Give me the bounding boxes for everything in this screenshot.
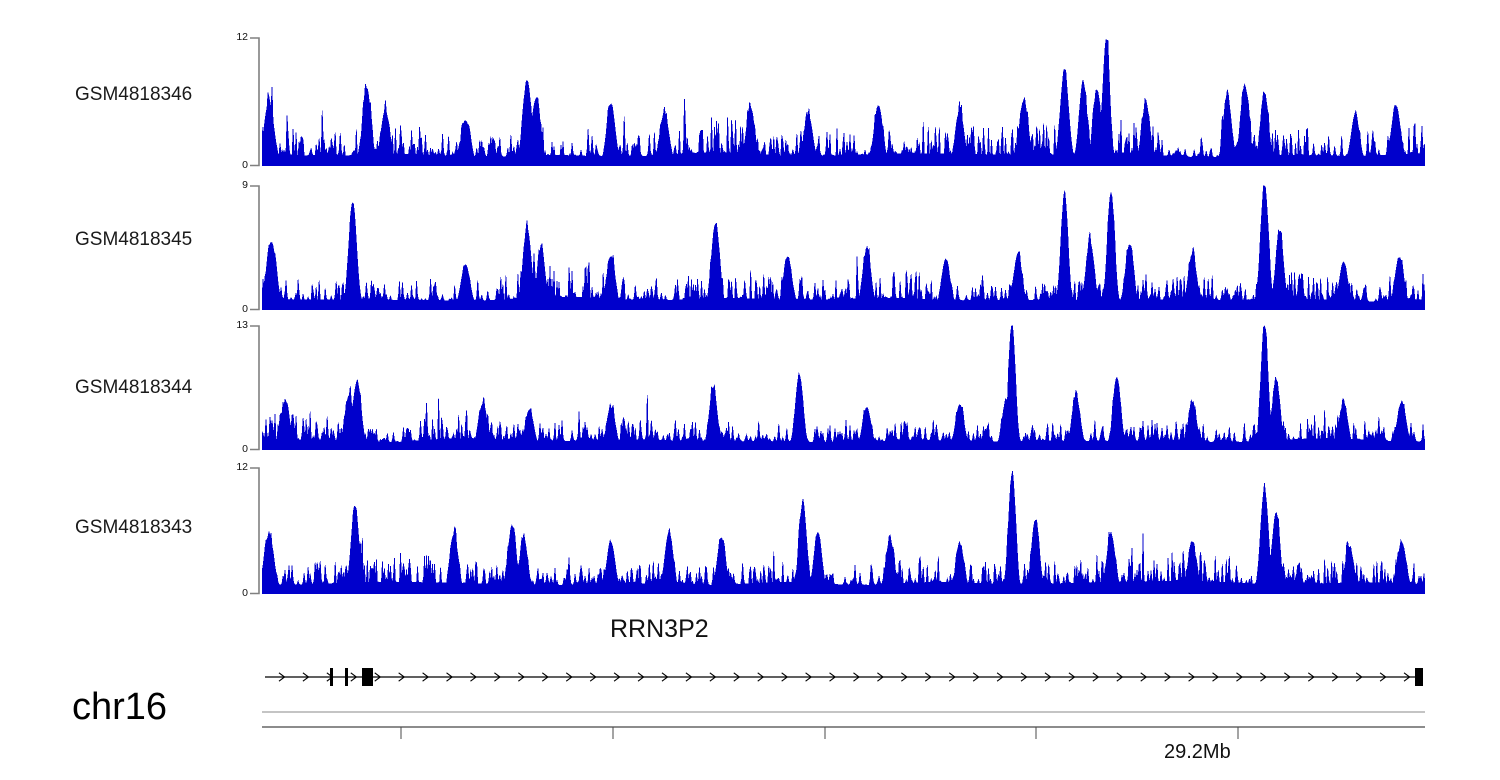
track-sample-label: GSM4818346	[75, 85, 192, 104]
signal-plot-area[interactable]	[262, 37, 1425, 166]
genome-browser: GSM4818346120GSM481834590GSM4818344130GS…	[0, 0, 1500, 780]
track-axis	[250, 467, 260, 595]
axis-max-label: 13	[222, 320, 248, 331]
track-axis	[250, 325, 260, 451]
gene-exon-block	[1415, 668, 1423, 686]
axis-max-label: 9	[222, 180, 248, 191]
ruler-axis[interactable]	[262, 708, 1427, 748]
coverage-signal	[262, 37, 1425, 166]
track-axis-bracket	[250, 185, 260, 311]
track-sample-label: GSM4818343	[75, 518, 192, 537]
axis-min-label: 0	[222, 444, 248, 455]
ruler-position-label: 29.2Mb	[1164, 742, 1231, 762]
axis-min-label: 0	[222, 160, 248, 171]
axis-max-label: 12	[222, 32, 248, 43]
coverage-signal	[262, 325, 1425, 450]
axis-max-label: 12	[222, 462, 248, 473]
track-axis	[250, 37, 260, 167]
gene-exon-block	[330, 668, 333, 686]
track-sample-label: GSM4818344	[75, 378, 192, 397]
signal-plot-area[interactable]	[262, 467, 1425, 594]
gene-model[interactable]	[265, 664, 1428, 690]
axis-min-label: 0	[222, 304, 248, 315]
coverage-signal	[262, 185, 1425, 310]
signal-plot-area[interactable]	[262, 325, 1425, 450]
signal-plot-area[interactable]	[262, 185, 1425, 310]
gene-exon-block	[362, 668, 373, 686]
gene-label: RRN3P2	[610, 617, 709, 642]
axis-min-label: 0	[222, 588, 248, 599]
coverage-signal	[262, 467, 1425, 594]
track-sample-label: GSM4818345	[75, 230, 192, 249]
gene-exon-block	[345, 668, 348, 686]
track-axis	[250, 185, 260, 311]
track-axis-bracket	[250, 325, 260, 451]
track-axis-bracket	[250, 37, 260, 167]
track-axis-bracket	[250, 467, 260, 595]
chromosome-label: chr16	[72, 688, 167, 726]
